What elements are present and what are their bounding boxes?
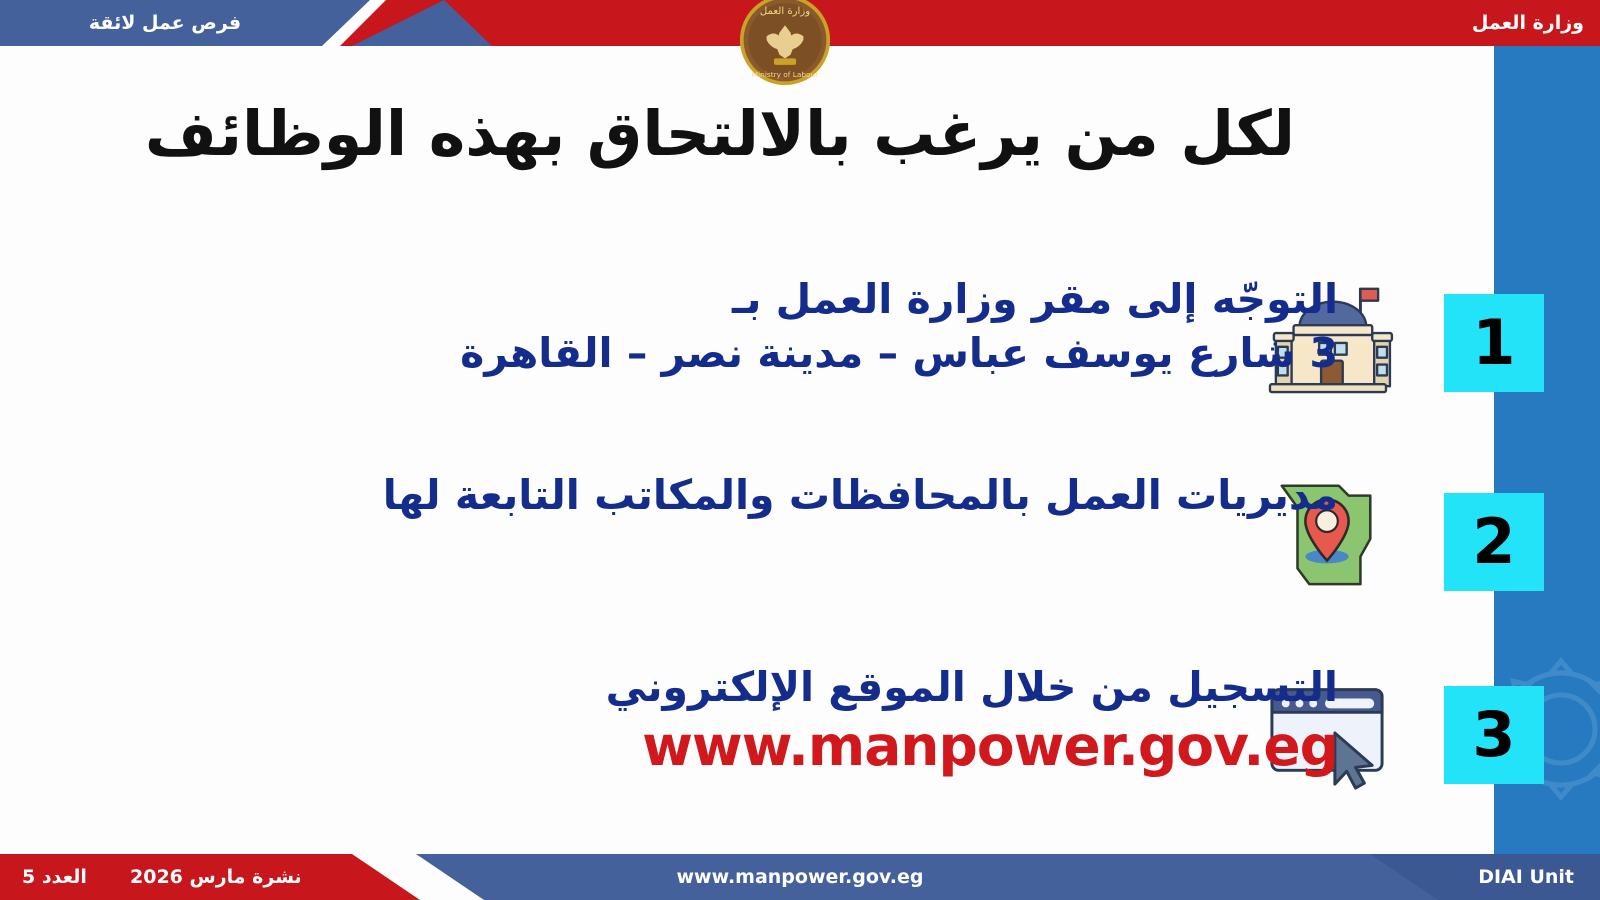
step-row-3: 3 التسجيل من خلال الموقع الإلكتروني www.… (0, 660, 1560, 780)
step-text-2-line1: مديريات العمل بالمحافظات والمكاتب التابع… (383, 471, 1338, 519)
header-red-shape (340, 0, 1600, 46)
step-text-1-line2: 3 شارع يوسف عباس – مدينة نصر – القاهرة (138, 326, 1338, 380)
step-row-1: 1 التوجّه (0, 272, 1560, 392)
header-ministry-name: وزارة العمل (1472, 0, 1584, 46)
step-text-2: مديريات العمل بالمحافظات والمكاتب التابع… (138, 468, 1338, 522)
footer-website[interactable]: www.manpower.gov.eg (0, 854, 1600, 900)
footer-unit-name: DIAI Unit (1478, 854, 1574, 900)
step-text-1-line1: التوجّه إلى مقر وزارة العمل بـ (732, 275, 1338, 323)
step-text-3: التسجيل من خلال الموقع الإلكتروني www.ma… (138, 660, 1338, 777)
footer-bar: العدد 5 نشرة مارس 2026 www.manpower.gov.… (0, 854, 1600, 900)
header-tagline: فرص عمل لائقة (0, 0, 330, 46)
step-number-badge-2: 2 (1444, 493, 1544, 591)
svg-text:وزارة العمل: وزارة العمل (760, 6, 810, 17)
step-number-badge-1: 1 (1444, 294, 1544, 392)
step-row-2: 2 مديريات العمل بالمحافظات والمكاتب التا… (0, 468, 1560, 588)
ministry-of-labour-seal-icon: وزارة العمل Ministry of Labour (739, 0, 831, 86)
page-title: لكل من يرغب بالالتحاق بهذه الوظائف (0, 78, 1440, 190)
step-text-1: التوجّه إلى مقر وزارة العمل بـ 3 شارع يو… (138, 272, 1338, 380)
step-text-3-line1: التسجيل من خلال الموقع الإلكتروني (606, 663, 1338, 711)
registration-website-url[interactable]: www.manpower.gov.eg (138, 716, 1338, 777)
step-number-badge-3: 3 (1444, 686, 1544, 784)
poster-canvas: فرص عمل لائقة وزارة العمل وزارة العمل Mi… (0, 0, 1600, 900)
